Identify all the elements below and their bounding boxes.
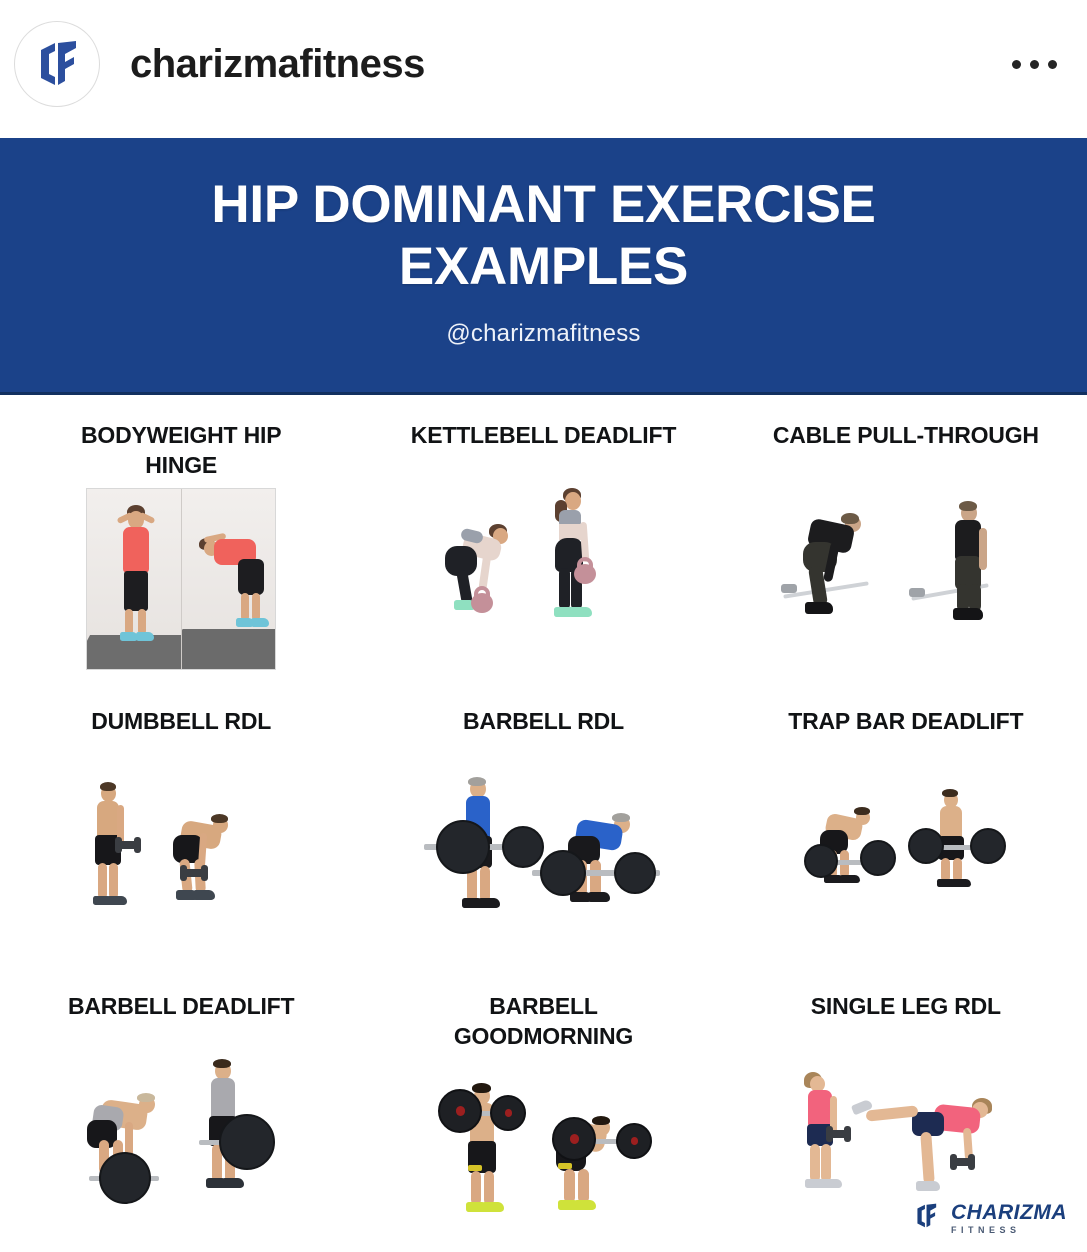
- exercise-label: BARBELL DEADLIFT: [68, 992, 294, 1022]
- exercise-cell-trap-bar-deadlift[interactable]: TRAP BAR DEADLIFT: [725, 681, 1087, 967]
- exercise-image-kettlebell-deadlift: [370, 451, 716, 677]
- exercise-cell-barbell-rdl[interactable]: BARBELL RDL: [362, 681, 724, 967]
- exercise-cell-kettlebell-deadlift[interactable]: KETTLEBELL DEADLIFT: [362, 395, 724, 681]
- exercise-label: BARBELL GOODMORNING: [408, 992, 678, 1052]
- exercise-label: BODYWEIGHT HIP HINGE: [46, 421, 316, 481]
- account-username[interactable]: charizmafitness: [130, 42, 425, 87]
- watermark-subtitle: FITNESS: [951, 1226, 1067, 1235]
- charizma-cf-logo-icon: [911, 1201, 941, 1236]
- instagram-post-screenshot: charizmafitness HIP DOMINANT EXERCISE EX…: [0, 0, 1087, 1252]
- exercise-image-dumbbell-rdl: [8, 737, 354, 963]
- exercise-label: DUMBBELL RDL: [91, 707, 271, 737]
- exercise-cell-barbell-deadlift[interactable]: BARBELL DEADLIFT: [0, 966, 362, 1252]
- exercise-cell-bodyweight-hip-hinge[interactable]: BODYWEIGHT HIP HINGE: [0, 395, 362, 681]
- exercise-cell-barbell-goodmorning[interactable]: BARBELL GOODMORNING: [362, 966, 724, 1252]
- charizma-watermark: CHARIZMA FITNESS: [911, 1201, 1067, 1236]
- exercise-label: SINGLE LEG RDL: [811, 992, 1001, 1022]
- title-banner: HIP DOMINANT EXERCISE EXAMPLES @charizma…: [0, 138, 1087, 395]
- exercise-label: CABLE PULL-THROUGH: [773, 421, 1039, 451]
- exercise-cell-dumbbell-rdl[interactable]: DUMBBELL RDL: [0, 681, 362, 967]
- exercise-image-barbell-goodmorning: [370, 1052, 716, 1248]
- post-header: charizmafitness: [0, 0, 1087, 128]
- exercise-image-barbell-deadlift: [8, 1022, 354, 1248]
- watermark-name: CHARIZMA: [951, 1202, 1067, 1223]
- exercise-cell-cable-pull-through[interactable]: CABLE PULL-THROUGH: [725, 395, 1087, 681]
- exercise-label: KETTLEBELL DEADLIFT: [411, 421, 676, 451]
- exercise-image-cable-pull-through: [733, 451, 1079, 677]
- more-options-icon[interactable]: [1006, 46, 1063, 83]
- avatar[interactable]: [14, 21, 100, 107]
- exercise-grid: BODYWEIGHT HIP HINGE: [0, 395, 1087, 1252]
- exercise-label: BARBELL RDL: [463, 707, 624, 737]
- charizma-cf-logo-icon: [29, 36, 85, 92]
- exercise-image-barbell-rdl: [370, 737, 716, 963]
- exercise-image-bodyweight-hip-hinge: [8, 481, 354, 677]
- banner-handle: @charizmafitness: [446, 320, 640, 348]
- exercise-image-trap-bar-deadlift: [733, 737, 1079, 963]
- exercise-label: TRAP BAR DEADLIFT: [788, 707, 1023, 737]
- page-title: HIP DOMINANT EXERCISE EXAMPLES: [114, 174, 974, 298]
